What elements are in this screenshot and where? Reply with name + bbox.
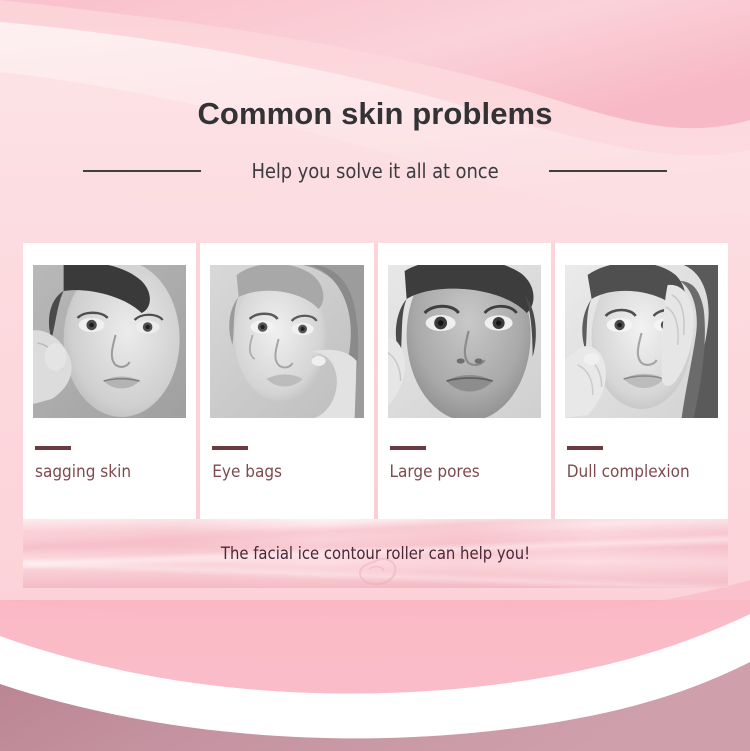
problem-card[interactable]: Dull complexion [555, 243, 728, 519]
subtitle-row: Help you solve it all at once [0, 159, 750, 183]
card-label: Eye bags [212, 462, 282, 482]
card-accent-bar [390, 446, 426, 450]
problem-card[interactable]: Large pores [378, 243, 551, 519]
card-photo-eye-bags [210, 265, 363, 418]
card-photo-sagging-skin [33, 265, 186, 418]
page-subtitle: Help you solve it all at once [251, 159, 498, 183]
header-section: Common skin problems Help you solve it a… [0, 96, 750, 183]
card-accent-bar [567, 446, 603, 450]
page-title: Common skin problems [0, 96, 750, 132]
card-label: Large pores [390, 462, 480, 482]
card-grid: sagging skin [23, 243, 728, 519]
decorative-rule-right-icon [549, 170, 667, 172]
card-label: Dull complexion [567, 462, 690, 482]
card-accent-bar [35, 446, 71, 450]
footer-banner: The facial ice contour roller can help y… [23, 519, 728, 588]
footer-text: The facial ice contour roller can help y… [23, 519, 728, 588]
card-accent-bar [212, 446, 248, 450]
card-photo-dull-complexion [565, 265, 718, 418]
content-panel: sagging skin [23, 243, 728, 588]
card-label: sagging skin [35, 462, 131, 482]
problem-card[interactable]: sagging skin [23, 243, 196, 519]
decorative-rule-left-icon [83, 170, 201, 172]
promo-banner-page: Common skin problems Help you solve it a… [0, 0, 750, 751]
problem-card[interactable]: Eye bags [200, 243, 373, 519]
card-photo-large-pores [388, 265, 541, 418]
